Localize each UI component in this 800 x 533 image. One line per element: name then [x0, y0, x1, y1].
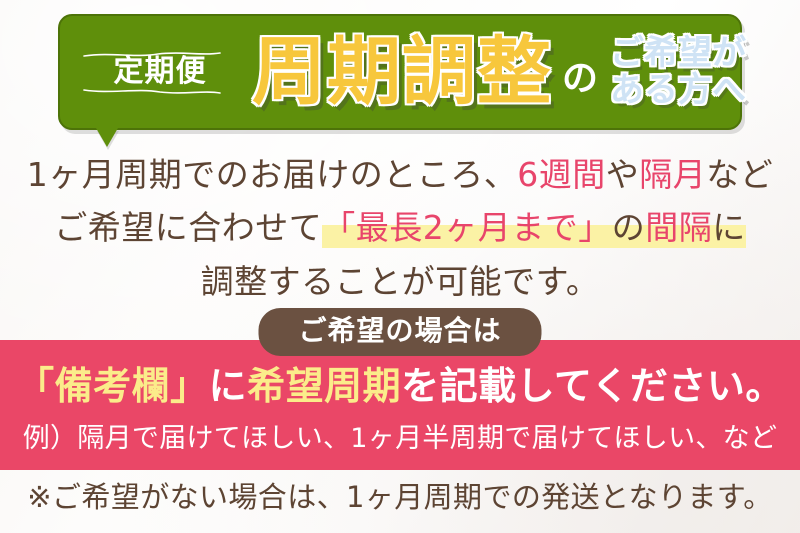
body-line1-seg5: など: [706, 155, 773, 194]
pink-example-text: 例）隔月で届けてほしい、1ヶ月半周期で届けてほしい、など: [0, 424, 800, 454]
request-case-pill: ご希望の場合は: [258, 308, 541, 356]
body-line-3: 調整することが可能です。: [0, 255, 800, 308]
body-line2-seg3: の: [612, 208, 646, 248]
pink-main-accent-notes-field: 「備考欄」: [16, 364, 209, 408]
wave-rule-top-icon: [82, 51, 222, 59]
header-subtitle: ご希望が ある方へ: [610, 35, 746, 108]
body-line-2: ご希望に合わせて「最長2ヶ月まで」の間隔に: [0, 201, 800, 254]
pink-main-seg4: を記載してください。: [401, 364, 784, 408]
speech-bubble-tail-icon: [96, 128, 118, 147]
pink-main-seg2: に: [209, 364, 248, 408]
header-subtitle-line2: ある方へ: [610, 72, 746, 109]
title-particle: の: [562, 61, 598, 97]
body-line1-seg3: や: [606, 155, 640, 194]
body-line2-highlight-maxtwomonths: 「最長2ヶ月まで」: [322, 208, 612, 248]
header-content-row: 定期便 周期調整 の ご希望が ある方へ: [58, 14, 742, 130]
subscription-cycle-banner: 定期便 周期調整 の ご希望が ある方へ 1ヶ月周期でのお届けのところ、6週間や…: [0, 0, 800, 533]
page-title: 周期調整: [252, 35, 552, 109]
footer-note: ※ご希望がない場合は、1ヶ月周期での発送となります。: [0, 482, 800, 514]
body-line2-seg1: ご希望に合わせて: [54, 208, 322, 247]
wave-rule-bottom-icon: [82, 87, 222, 95]
pink-main-accent-desired-cycle: 希望周期: [247, 364, 401, 408]
header-bubble-wrap: 定期便 周期調整 の ご希望が ある方へ: [58, 14, 742, 130]
subscription-badge: 定期便: [78, 45, 240, 99]
body-line2-highlight-interval: 間隔: [645, 208, 712, 248]
body-paragraph: 1ヶ月周期でのお届けのところ、6週間や隔月など ご希望に合わせて「最長2ヶ月まで…: [0, 148, 800, 308]
body-line-1: 1ヶ月周期でのお届けのところ、6週間や隔月など: [0, 148, 800, 201]
body-line2-seg5: に: [712, 208, 746, 248]
pink-main-instruction: 「備考欄」に希望周期を記載してください。: [0, 366, 800, 408]
body-line1-accent-6weeks: 6週間: [517, 155, 606, 194]
header-subtitle-line1: ご希望が: [610, 35, 746, 72]
body-line1-accent-bimonthly: 隔月: [639, 155, 706, 194]
subscription-badge-label: 定期便: [86, 57, 234, 87]
body-line1-seg1: 1ヶ月周期でのお届けのところ、: [27, 155, 518, 194]
